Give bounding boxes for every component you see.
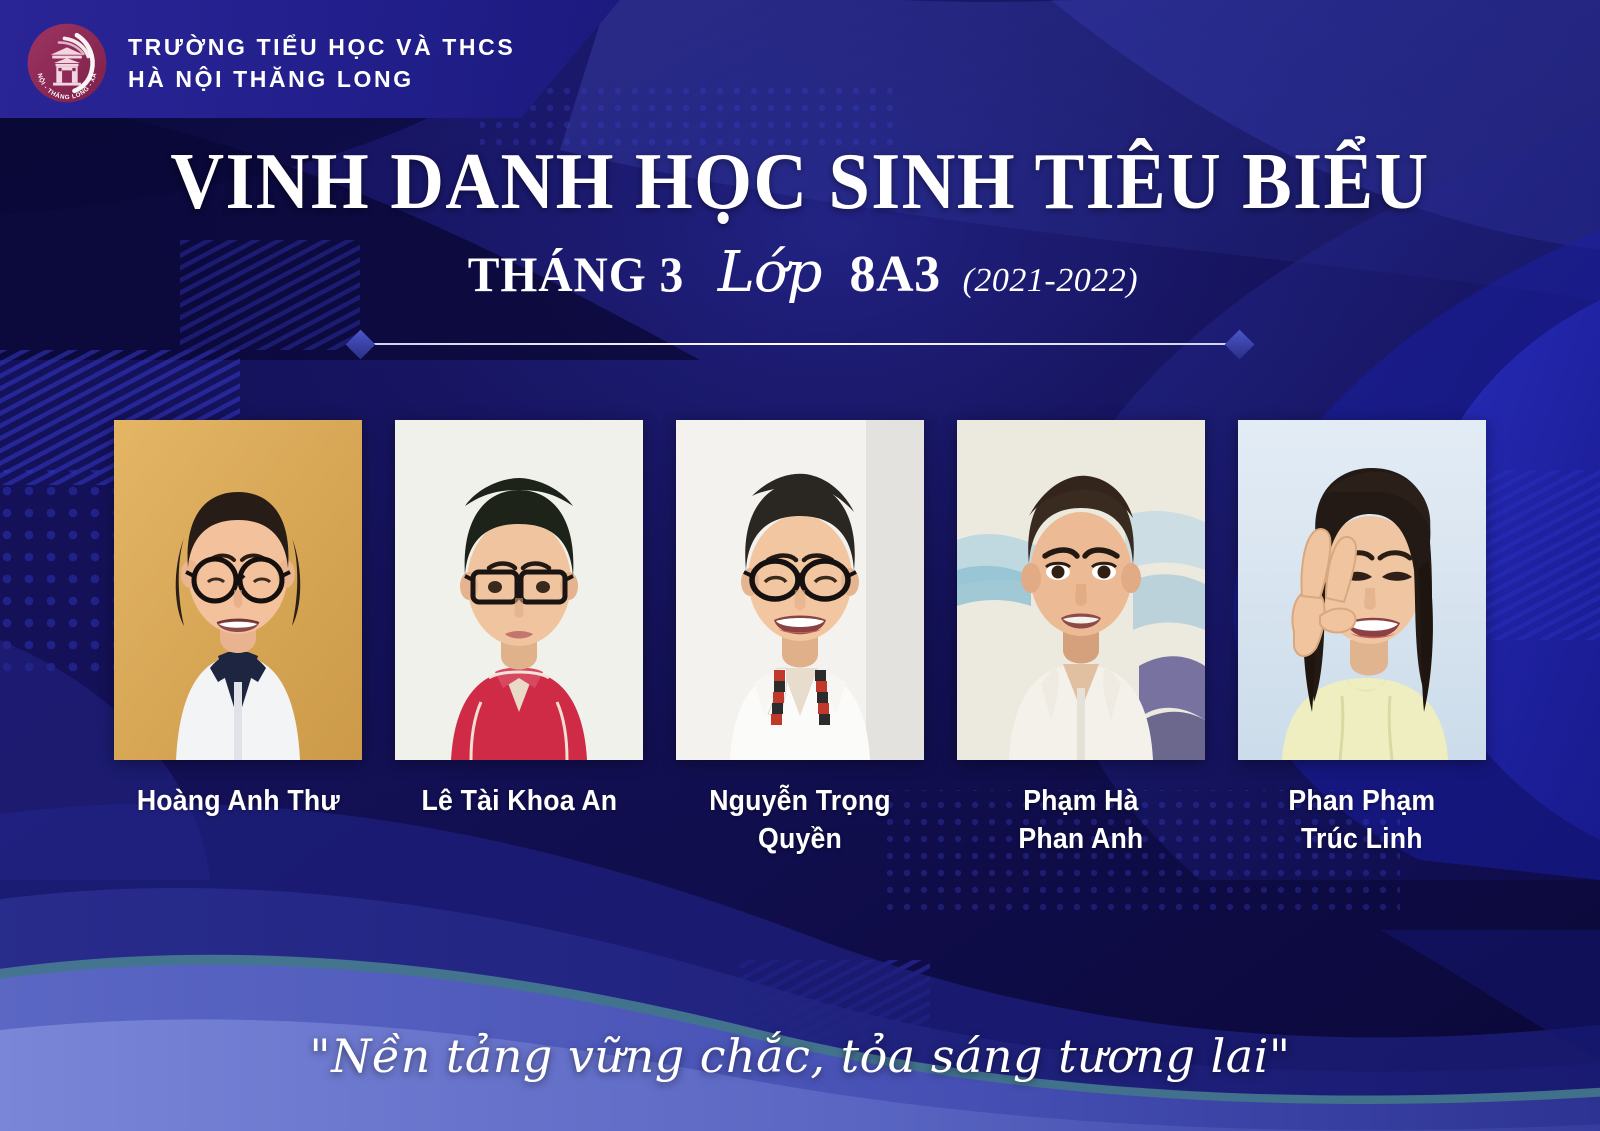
brand-lockup: HÀ NỘI - THĂNG LONG - XA LA TRƯỜNG TIỂU … (26, 22, 515, 104)
divider (350, 331, 1250, 357)
photo-nguyen-trong-quyen (676, 420, 924, 760)
subtitle-line: THÁNG 3 Lớp 8A3 (2021-2022) (0, 240, 1600, 305)
page-title: VINH DANH HỌC SINH TIÊU BIỂU (56, 140, 1544, 224)
school-logo: HÀ NỘI - THĂNG LONG - XA LA (26, 22, 108, 104)
student-card: Lê Tài Khoa An (395, 420, 643, 820)
student-card: Phan Phạm Trúc Linh (1238, 420, 1486, 859)
brand-line-2: HÀ NỘI THĂNG LONG (128, 67, 515, 92)
photo-phan-pham-truc-linh (1238, 420, 1486, 760)
diamond-right-icon (1225, 329, 1255, 359)
photo-pham-ha-phan-anh (957, 420, 1205, 760)
student-name: Hoàng Anh Thư (136, 782, 339, 820)
student-name: Phạm Hà Phan Anh (1018, 782, 1143, 859)
photo-le-tai-khoa-an (395, 420, 643, 760)
photo-hoang-anh-thu (114, 420, 362, 760)
month-label: THÁNG 3 (468, 245, 684, 303)
class-word-label: Lớp (712, 240, 828, 305)
brand-line-1: TRƯỜNG TIỂU HỌC VÀ THCS (128, 35, 515, 60)
student-card: Hoàng Anh Thư (114, 420, 362, 820)
student-name: Lê Tài Khoa An (421, 782, 617, 820)
poster-root: HÀ NỘI - THĂNG LONG - XA LA TRƯỜNG TIỂU … (0, 0, 1600, 1131)
student-card: Phạm Hà Phan Anh (957, 420, 1205, 859)
student-card: Nguyễn Trọng Quyền (676, 420, 924, 859)
title-block: VINH DANH HỌC SINH TIÊU BIỂU THÁNG 3 Lớp… (0, 140, 1600, 305)
diamond-left-icon (346, 329, 376, 359)
school-year-label: (2021-2022) (963, 262, 1138, 300)
tagline: "Nền tảng vững chắc, tỏa sáng tương lai" (0, 1029, 1600, 1083)
divider-line (369, 343, 1231, 345)
student-grid: Hoàng Anh Thư (0, 420, 1600, 859)
class-name-label: 8A3 (850, 245, 941, 304)
student-name: Nguyễn Trọng Quyền (686, 782, 914, 859)
student-name: Phan Phạm Trúc Linh (1289, 782, 1436, 859)
brand-text-block: TRƯỜNG TIỂU HỌC VÀ THCS HÀ NỘI THĂNG LON… (128, 35, 515, 92)
